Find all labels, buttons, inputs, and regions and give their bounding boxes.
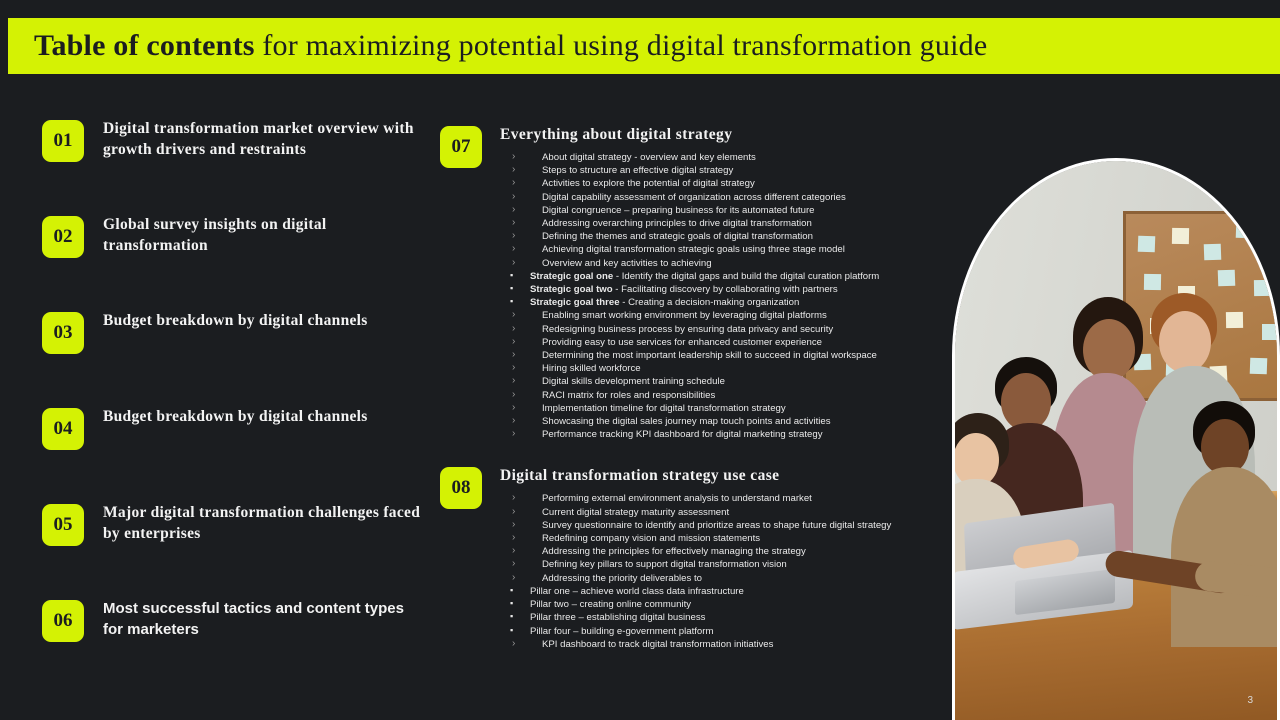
team-photo: 3 — [952, 158, 1280, 720]
toc-sub-bullet: Pillar one – achieve world class data in… — [500, 585, 945, 598]
toc-section-08[interactable]: 08Digital transformation strategy use ca… — [440, 467, 945, 650]
slide: Table of contents for maximizing potenti… — [0, 0, 1280, 720]
toc-number-badge: 01 — [42, 120, 84, 162]
toc-bullet: Redesigning business process by ensuring… — [500, 323, 945, 336]
toc-section-07[interactable]: 07Everything about digital strategyAbout… — [440, 126, 945, 441]
toc-bullet: Showcasing the digital sales journey map… — [500, 415, 945, 428]
toc-sub-bullet-strong: Strategic goal three — [530, 297, 620, 308]
toc-bullet: KPI dashboard to track digital transform… — [500, 638, 945, 651]
toc-bullet: Survey questionnaire to identify and pri… — [500, 519, 945, 532]
toc-sub-bullet: Strategic goal two - Facilitating discov… — [500, 283, 945, 296]
toc-sub-bullet-text: - Facilitating discovery by collaboratin… — [613, 284, 838, 295]
toc-section-title: Everything about digital strategy — [500, 126, 945, 144]
toc-item-01[interactable]: 01Digital transformation market overview… — [42, 118, 427, 162]
toc-bullet: Digital skills development training sche… — [500, 375, 945, 388]
toc-section-body: Everything about digital strategyAbout d… — [500, 126, 945, 441]
sticky-note — [1254, 280, 1271, 296]
sticky-note — [1266, 248, 1277, 265]
toc-sub-bullet-strong: Strategic goal one — [530, 271, 613, 282]
person-head — [1159, 311, 1211, 373]
toc-item-06[interactable]: 06Most successful tactics and content ty… — [42, 598, 427, 642]
toc-sub-bullet-text: Pillar three – establishing digital busi… — [530, 612, 705, 623]
toc-bullet: RACI matrix for roles and responsibiliti… — [500, 389, 945, 402]
toc-number-badge: 05 — [42, 504, 84, 546]
toc-bullet: Enabling smart working environment by le… — [500, 309, 945, 322]
sticky-note — [1172, 228, 1189, 244]
sticky-note — [1144, 274, 1161, 290]
page-title-strong: Table of contents — [34, 29, 255, 62]
person-head — [1083, 319, 1135, 381]
toc-number-badge: 07 — [440, 126, 482, 168]
sticky-note — [1236, 222, 1254, 239]
toc-number-badge: 08 — [440, 467, 482, 509]
toc-bullet: Activities to explore the potential of d… — [500, 177, 945, 190]
person-body — [1171, 467, 1277, 647]
toc-item-label: Global survey insights on digital transf… — [103, 214, 427, 256]
toc-number-badge: 03 — [42, 312, 84, 354]
toc-item-02[interactable]: 02Global survey insights on digital tran… — [42, 214, 427, 258]
left-column: 01Digital transformation market overview… — [42, 118, 427, 694]
toc-bullet: Performing external environment analysis… — [500, 492, 945, 505]
toc-number-badge: 06 — [42, 600, 84, 642]
toc-bullet: Determining the most important leadershi… — [500, 349, 945, 362]
toc-bullet: Digital capability assessment of organiz… — [500, 191, 945, 204]
toc-item-03[interactable]: 03Budget breakdown by digital channels — [42, 310, 427, 354]
toc-bullet-list: Performing external environment analysis… — [500, 492, 945, 650]
toc-bullet: Achieving digital transformation strateg… — [500, 243, 945, 256]
toc-bullet: Addressing overarching principles to dri… — [500, 217, 945, 230]
sticky-note — [1204, 244, 1222, 261]
toc-sub-bullet-list: Strategic goal one - Identify the digita… — [500, 270, 945, 310]
toc-sub-bullet: Pillar three – establishing digital busi… — [500, 611, 945, 624]
toc-item-label: Major digital transformation challenges … — [103, 502, 427, 544]
toc-bullet: Defining the themes and strategic goals … — [500, 230, 945, 243]
toc-sublist-host: Pillar one – achieve world class data in… — [500, 585, 945, 638]
toc-sub-bullet-list: Pillar one – achieve world class data in… — [500, 585, 945, 638]
toc-bullet: Steps to structure an effective digital … — [500, 164, 945, 177]
toc-bullet: Providing easy to use services for enhan… — [500, 336, 945, 349]
toc-bullet: Addressing the priority deliverables to — [500, 572, 945, 585]
toc-bullet: Hiring skilled workforce — [500, 362, 945, 375]
toc-sublist-host: Strategic goal one - Identify the digita… — [500, 270, 945, 310]
sticky-note — [1250, 358, 1268, 375]
toc-sub-bullet-text: - Identify the digital gaps and build th… — [613, 271, 879, 282]
toc-bullet: Digital congruence – preparing business … — [500, 204, 945, 217]
toc-sub-bullet-strong: Strategic goal two — [530, 284, 613, 295]
toc-sub-bullet: Pillar two – creating online community — [500, 598, 945, 611]
photo-illustration — [955, 161, 1277, 720]
toc-bullet: Performance tracking KPI dashboard for d… — [500, 428, 945, 441]
toc-sub-bullet-text: Pillar two – creating online community — [530, 599, 691, 610]
toc-number-badge: 02 — [42, 216, 84, 258]
toc-sub-bullet: Strategic goal three - Creating a decisi… — [500, 296, 945, 309]
sticky-note — [1138, 236, 1156, 253]
header-bar: Table of contents for maximizing potenti… — [8, 18, 1280, 74]
page-number: 3 — [1247, 695, 1253, 706]
toc-item-label: Budget breakdown by digital channels — [103, 406, 368, 427]
toc-sub-bullet: Strategic goal one - Identify the digita… — [500, 270, 945, 283]
sticky-note — [1276, 234, 1277, 250]
toc-bullet: Current digital strategy maturity assess… — [500, 506, 945, 519]
toc-number-badge: 04 — [42, 408, 84, 450]
toc-bullet: Defining key pillars to support digital … — [500, 558, 945, 571]
sticky-note — [1218, 270, 1236, 287]
toc-item-label: Most successful tactics and content type… — [103, 598, 427, 640]
page-title: Table of contents for maximizing potenti… — [34, 29, 987, 63]
page-title-rest: for maximizing potential using digital t… — [255, 29, 988, 62]
toc-sub-bullet-text: - Creating a decision-making organizatio… — [620, 297, 800, 308]
toc-item-04[interactable]: 04Budget breakdown by digital channels — [42, 406, 427, 450]
toc-section-title: Digital transformation strategy use case — [500, 467, 945, 485]
toc-item-label: Budget breakdown by digital channels — [103, 310, 368, 331]
toc-bullet: About digital strategy - overview and ke… — [500, 151, 945, 164]
sticky-note — [1226, 312, 1243, 328]
toc-bullet: Addressing the principles for effectivel… — [500, 545, 945, 558]
toc-section-body: Digital transformation strategy use case… — [500, 467, 945, 650]
right-column: 07Everything about digital strategyAbout… — [440, 126, 945, 651]
toc-item-label: Digital transformation market overview w… — [103, 118, 427, 160]
sticky-note — [1262, 324, 1277, 340]
toc-sub-bullet-text: Pillar four – building e-government plat… — [530, 626, 713, 637]
toc-bullet: Implementation timeline for digital tran… — [500, 402, 945, 415]
toc-sub-bullet-text: Pillar one – achieve world class data in… — [530, 586, 744, 597]
toc-bullet-list: About digital strategy - overview and ke… — [500, 151, 945, 441]
toc-bullet: Overview and key activities to achieving — [500, 257, 945, 270]
toc-sub-bullet: Pillar four – building e-government plat… — [500, 625, 945, 638]
toc-item-05[interactable]: 05Major digital transformation challenge… — [42, 502, 427, 546]
toc-bullet: Redefining company vision and mission st… — [500, 532, 945, 545]
